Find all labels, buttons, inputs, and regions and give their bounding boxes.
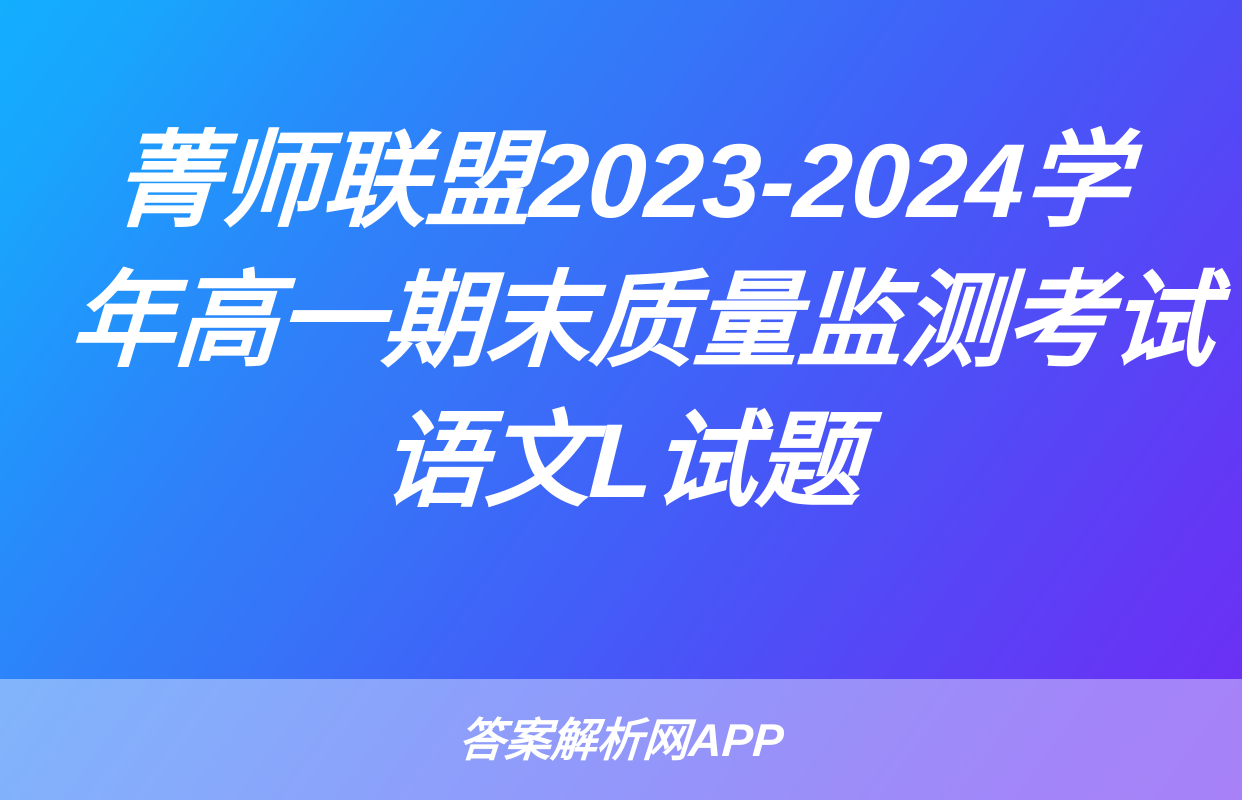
- poster-title-block: 菁师联盟2023-2024学 年高一期末质量监测考试 语文L试题: [0, 0, 1242, 679]
- footer-watermark-band: 答案解析网APP: [0, 679, 1242, 800]
- page-title-line-1: 菁师联盟2023-2024学: [66, 112, 1175, 252]
- page-title-line-3: 语文L试题: [66, 392, 1175, 532]
- app-brand-label: 答案解析网APP: [457, 717, 785, 763]
- page-title-line-2: 年高一期末质量监测考试: [66, 252, 1175, 392]
- exam-title-poster: 菁师联盟2023-2024学 年高一期末质量监测考试 语文L试题 答案解析网AP…: [0, 0, 1242, 800]
